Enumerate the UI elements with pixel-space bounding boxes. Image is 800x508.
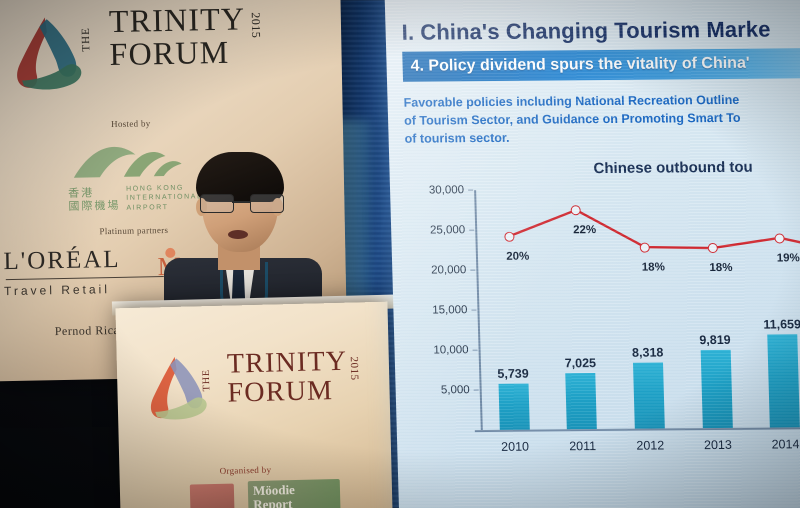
organiser-logo-1-icon xyxy=(190,484,235,508)
presentation-photo-scene: THE TRINITY FORUM 2015 Hosted by 香港 國際機場 xyxy=(0,0,800,508)
trinity-forum-logo-icon xyxy=(0,7,92,101)
banner-brand-the: THE xyxy=(81,27,92,52)
podium-brand-forum: FORUM xyxy=(227,377,348,406)
speaker-mouth xyxy=(228,230,248,239)
podium-brand-year: 2015 xyxy=(349,356,360,380)
podium-brand-the: THE xyxy=(202,369,212,392)
eyeglass-lens-right xyxy=(250,194,284,213)
loreal-travel-retail-logo: L'ORÉAL Travel Retail xyxy=(3,245,164,298)
moodie-report-logo: Möodie Report xyxy=(248,479,341,508)
eyeglass-lens-left xyxy=(200,194,234,213)
screen-glare-overlay xyxy=(384,0,800,508)
loreal-wordmark: L'ORÉAL xyxy=(3,245,164,276)
banner-brand-trinity: TRINITY xyxy=(109,4,246,36)
eyeglass-bridge xyxy=(232,201,250,203)
hkia-logo-chinese-text: 香港 國際機場 xyxy=(68,186,120,213)
hosted-by-label: Hosted by xyxy=(71,118,191,130)
projection-screen: 16 – 18 September 2015 I. China's Changi… xyxy=(384,0,800,508)
moodie-logo-line-2: Report xyxy=(253,496,335,508)
organised-by-label: Organised by xyxy=(175,464,315,477)
loreal-subtitle: Travel Retail xyxy=(4,281,164,298)
banner-brand-forum: FORUM xyxy=(109,38,246,70)
banner-brand-year: 2015 xyxy=(250,12,262,38)
pernod-ricard-logo-text: Pernod Rica xyxy=(55,323,120,339)
podium-front-panel: THE TRINITY FORUM 2015 Organised by Möod… xyxy=(115,302,392,508)
speaker-eyeglasses xyxy=(200,194,282,211)
podium-brand-trinity: TRINITY xyxy=(227,349,348,378)
